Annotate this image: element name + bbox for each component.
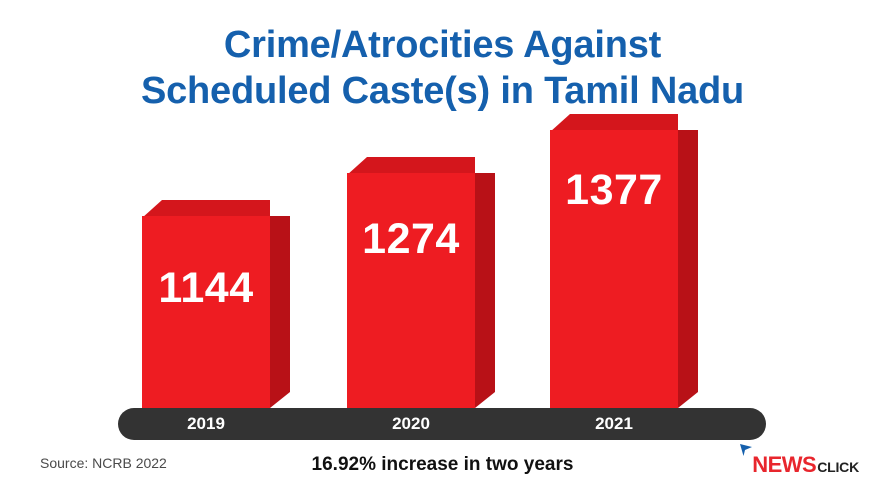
infographic-canvas: Crime/Atrocities Against Scheduled Caste… [0,0,885,498]
bar-side-2021 [678,130,698,408]
arrow-mark-icon [739,443,753,457]
axis-label-2020: 2020 [347,408,475,440]
axis-label-2021: 2021 [550,408,678,440]
x-axis-bar: 2019 2020 2021 [118,408,766,440]
bar-side-2019 [270,216,290,408]
bar-chart: 1144 1274 1377 2019 2020 2021 [0,0,885,498]
bar-value-2020: 1274 [347,215,475,264]
logo-click-text: CLICK [817,460,859,474]
newsclick-logo: NEWS CLICK [752,454,859,476]
bar-group-2021: 1377 [550,130,678,408]
bar-side-2020 [475,173,495,408]
logo-news-text: NEWS [752,454,816,476]
axis-label-2019: 2019 [142,408,270,440]
bar-value-2021: 1377 [550,166,678,215]
bar-group-2020: 1274 [347,173,475,408]
bar-value-2019: 1144 [142,264,270,313]
bar-group-2019: 1144 [142,216,270,408]
bar-face-2020 [347,173,475,408]
